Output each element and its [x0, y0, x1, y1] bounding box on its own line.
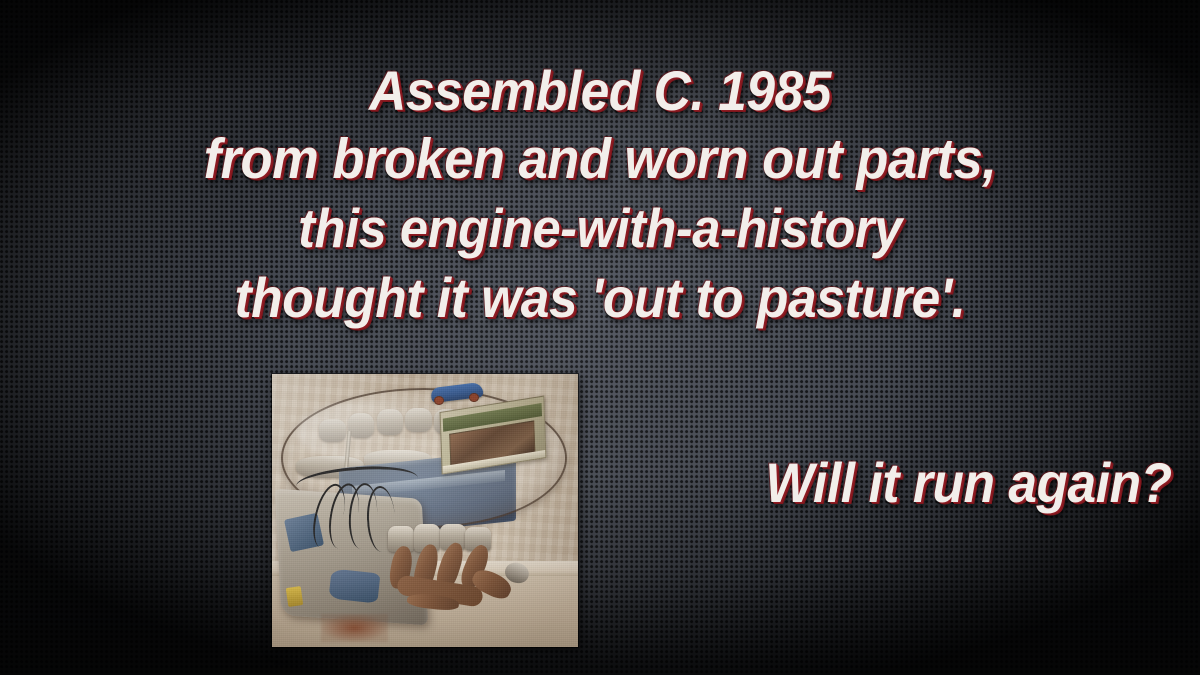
question-text: Will it run again?	[766, 452, 1172, 514]
caption-line-3: this engine-with-a-history	[48, 194, 1152, 263]
photo-engine-yellow-tag	[286, 586, 304, 607]
caption-line-1: Assembled C. 1985	[48, 56, 1152, 125]
caption-block: Assembled C. 1985 from broken and worn o…	[0, 56, 1200, 332]
caption-line-4: thought it was 'out to pasture'.	[48, 263, 1152, 332]
caption-line-2: from broken and worn out parts,	[48, 125, 1152, 194]
photo-toy-car-wheel	[434, 396, 444, 405]
photo-exhaust-headers	[388, 524, 541, 622]
photo-rust-stain	[321, 614, 388, 641]
photo-engine-blue-accessory	[329, 568, 381, 603]
engine-table-photo	[272, 374, 578, 647]
slide-canvas: Assembled C. 1985 from broken and worn o…	[0, 0, 1200, 675]
